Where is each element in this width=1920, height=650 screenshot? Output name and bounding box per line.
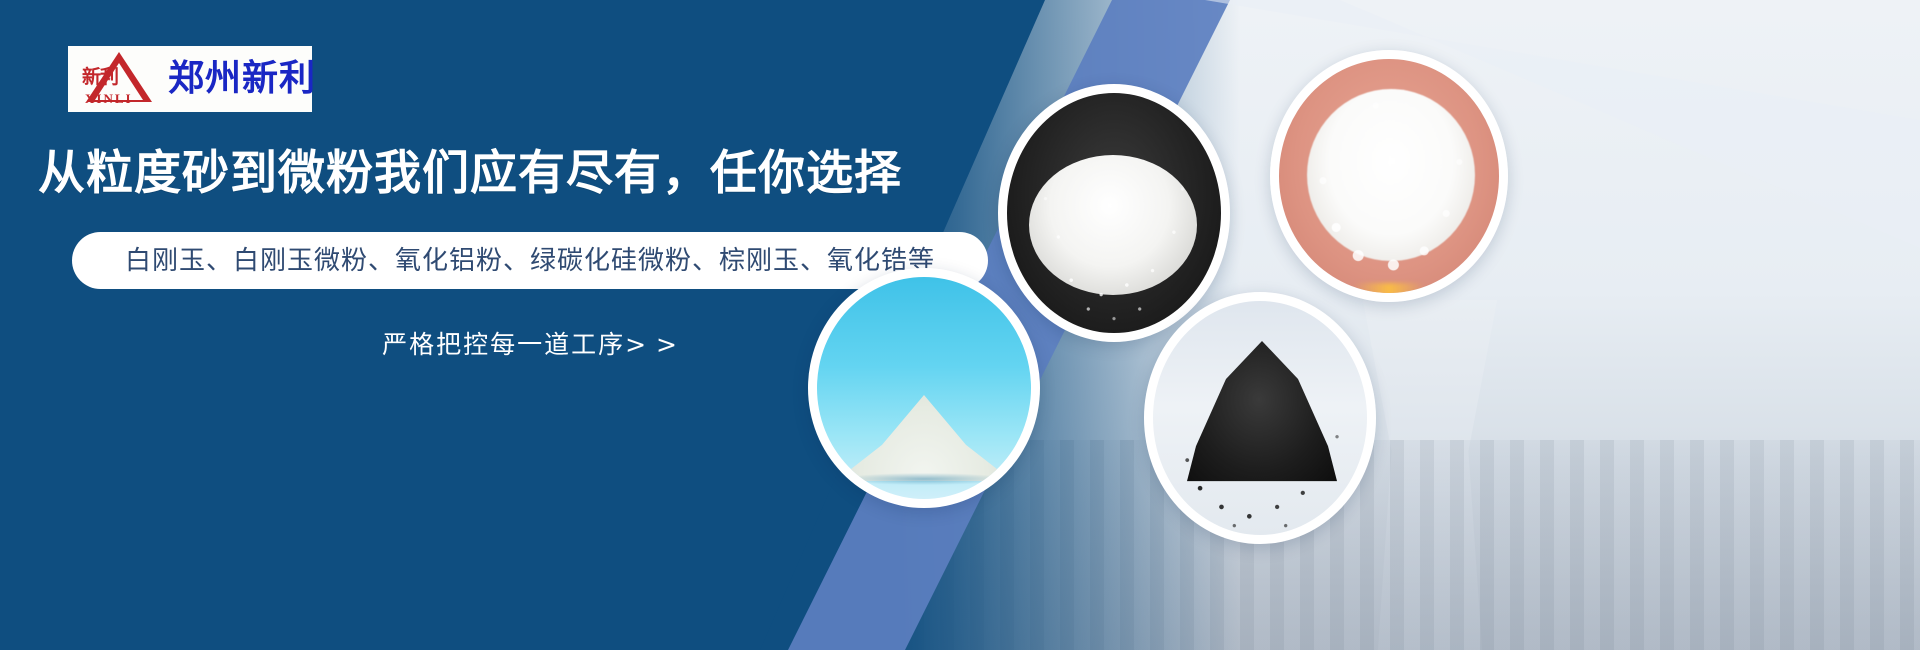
logo-mark-en-text: XINLI [85,92,133,105]
logo-mark-cn-text: 新利 [82,68,118,87]
product-circle-black-silicon-carbide-grain[interactable] [1144,292,1376,544]
company-name: 郑州新利 [168,61,316,97]
heap-shadow [843,473,1005,485]
tray-gleam [1354,283,1424,297]
product-circle-alumina-micropowder[interactable] [1270,50,1508,302]
cta-label: 严格把控每一道工序 [382,330,625,359]
headline: 从粒度砂到微粉我们应有尽有，任你选择 [38,146,902,201]
powder-speckles [1279,59,1499,293]
product-circle-white-powder-cone[interactable] [808,268,1040,508]
promo-banner: 新利 XINLI 郑州新利 从粒度砂到微粉我们应有尽有，任你选择 白刚玉、白刚玉… [0,0,1920,650]
product-list-text: 白刚玉、白刚玉微粉、氧化铝粉、绿碳化硅微粉、棕刚玉、氧化锆等 [125,248,935,274]
cta-arrow-icon: > > [625,330,678,359]
grain-speckles [1007,93,1221,333]
company-logo[interactable]: 新利 XINLI 郑州新利 [68,46,312,112]
product-list-pill: 白刚玉、白刚玉微粉、氧化铝粉、绿碳化硅微粉、棕刚玉、氧化锆等 [72,232,988,289]
material-heap [849,395,999,481]
triangle-logo-icon: 新利 XINLI [82,50,156,108]
grain-speckles [1153,301,1367,535]
